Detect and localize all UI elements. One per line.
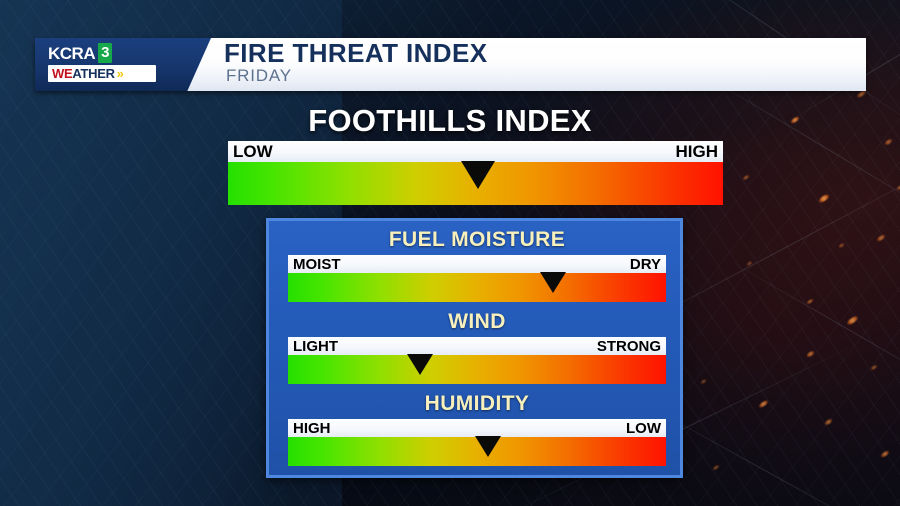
humidity-bar-wrap [288,437,666,466]
fuel-moisture-title: FUEL MOISTURE [288,229,666,250]
foothills-index-title: FOOTHILLS INDEX [0,103,900,139]
humidity-left-label: HIGH [293,421,331,436]
wind-section: WIND LIGHT STRONG [288,311,666,384]
fuel-moisture-gradient-bar [288,273,666,302]
weather-graphic-stage: KCRA 3 WEATHER » FIRE THREAT INDEX FRIDA… [0,0,900,506]
foothills-label-bar: LOW HIGH [228,141,723,162]
wind-gradient-bar [288,355,666,384]
foothills-marker-triangle-icon [461,161,495,189]
fuel-moisture-marker-triangle-icon [540,272,566,293]
humidity-right-label: LOW [626,421,661,436]
weather-label-part1: WE [52,67,72,80]
fuel-moisture-bar-wrap [288,273,666,302]
wind-label-bar: LIGHT STRONG [288,337,666,355]
header-banner: KCRA 3 WEATHER » FIRE THREAT INDEX FRIDA… [35,38,866,91]
kcra-network-text: KCRA [48,45,95,62]
subindex-panel: FUEL MOISTURE MOIST DRY WIND LIGHT STRON… [266,218,683,478]
double-chevron-icon: » [117,67,121,80]
kcra-logo: KCRA 3 WEATHER » [48,43,156,86]
fuel-moisture-section: FUEL MOISTURE MOIST DRY [288,229,666,302]
foothills-index-gauge: LOW HIGH [228,141,723,205]
fuel-moisture-left-label: MOIST [293,257,341,272]
page-subtitle-day: FRIDAY [226,67,292,84]
humidity-label-bar: HIGH LOW [288,419,666,437]
wind-bar-wrap [288,355,666,384]
kcra-channel-number: 3 [98,43,112,63]
humidity-gauge: HIGH LOW [288,419,666,466]
fuel-moisture-label-bar: MOIST DRY [288,255,666,273]
kcra-weather-badge: WEATHER » [48,65,156,82]
wind-left-label: LIGHT [293,339,338,354]
page-title: FIRE THREAT INDEX [224,40,487,67]
weather-label-part2: ATHER [72,67,114,80]
humidity-title: HUMIDITY [288,393,666,414]
wind-gauge: LIGHT STRONG [288,337,666,384]
fuel-moisture-gauge: MOIST DRY [288,255,666,302]
foothills-high-label: HIGH [676,143,719,160]
humidity-section: HUMIDITY HIGH LOW [288,393,666,466]
foothills-bar-wrap [228,162,723,205]
foothills-low-label: LOW [233,143,273,160]
header-logo-panel: KCRA 3 WEATHER » [35,38,185,91]
fuel-moisture-right-label: DRY [630,257,661,272]
kcra-logo-top-row: KCRA 3 [48,43,156,63]
wind-title: WIND [288,311,666,332]
humidity-marker-triangle-icon [475,436,501,457]
wind-right-label: STRONG [597,339,661,354]
wind-marker-triangle-icon [407,354,433,375]
